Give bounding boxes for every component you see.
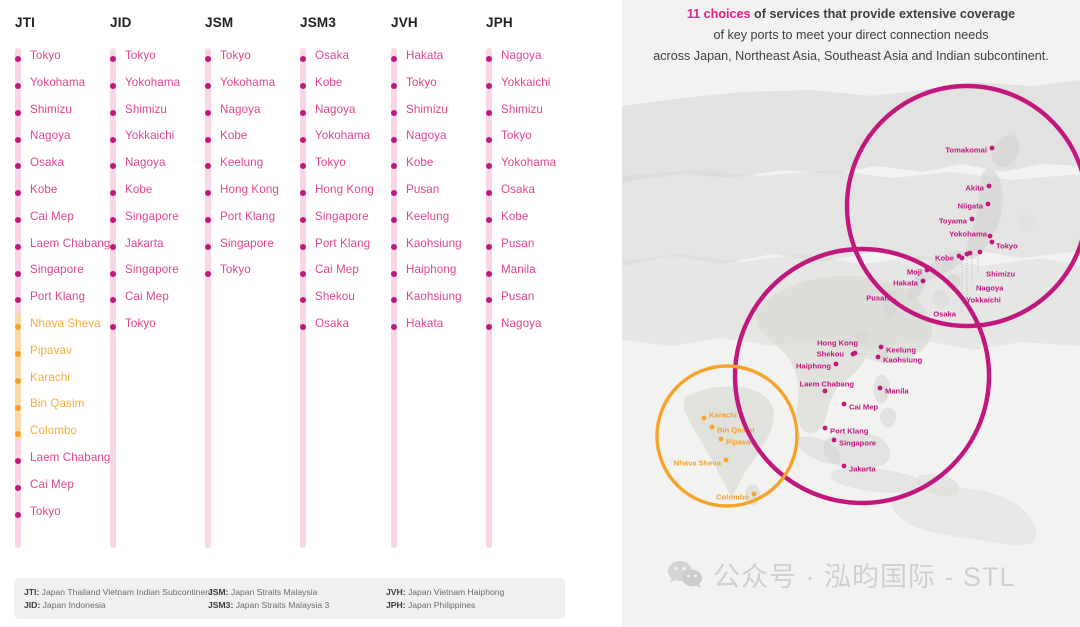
legend-text: Japan Indonesia [40, 600, 105, 610]
stop-label: Tokyo [220, 263, 251, 277]
column-header: JTI [15, 14, 35, 32]
stop-label: Tokyo [406, 76, 437, 90]
stop-dot-icon [391, 271, 397, 277]
stop-dot-icon [110, 137, 116, 143]
legend-group: JVH: Japan Vietnam HaiphongJPH: Japan Ph… [386, 586, 504, 611]
stop-label: Tokyo [125, 49, 156, 63]
headline-line-1-rest: of services that provide extensive cover… [751, 7, 1016, 21]
stop-dot-icon [205, 217, 211, 223]
stop-dot-icon [15, 512, 21, 518]
stop-dot-icon [300, 217, 306, 223]
stop-label: Pusan [406, 183, 439, 197]
legend-code: JID: [24, 600, 40, 610]
legend-code: JTI: [24, 587, 39, 597]
stop-label: Singapore [125, 263, 179, 277]
port-dot-icon [970, 217, 975, 222]
legend-row: JVH: Japan Vietnam Haiphong [386, 586, 504, 599]
port-label: Kobe [935, 254, 954, 263]
stop-label: Yokohama [220, 76, 275, 90]
port-dot-icon [834, 362, 839, 367]
stop-dot-icon [15, 244, 21, 250]
port-dot-icon [986, 202, 991, 207]
stop-label: Kobe [315, 76, 342, 90]
stop-dot-icon [486, 217, 492, 223]
stop-dot-icon [300, 110, 306, 116]
map-panel: 11 choices of services that provide exte… [622, 0, 1080, 627]
stop-label: Osaka [30, 156, 64, 170]
port-dot-icon [823, 426, 828, 431]
stop-dot-icon [205, 110, 211, 116]
stop-label: Shimizu [125, 103, 167, 117]
stop-label: Kaohsiung [406, 237, 462, 251]
service-column-jid: JIDTokyoYokohamaShimizuYokkaichiNagoyaKo… [110, 14, 132, 32]
stop-dot-icon [110, 271, 116, 277]
port-dot-icon [876, 355, 881, 360]
stop-label: Nagoya [406, 129, 447, 143]
stop-label: Tokyo [315, 156, 346, 170]
world-map: TomakomaiAkitaNiigataToyamaYokohamaTokyo… [622, 46, 1080, 546]
stop-dot-icon [486, 244, 492, 250]
stop-dot-icon [205, 244, 211, 250]
port-label: Keelung [886, 346, 916, 355]
stop-dot-icon [15, 405, 21, 411]
stop-label: Nhava Sheva [30, 317, 101, 331]
port-dot-icon [851, 352, 856, 357]
stop-label: Laem Chabang [30, 451, 110, 465]
stop-label: Nagoya [125, 156, 166, 170]
watermark: 公众号 · 泓昀国际 - STL [667, 555, 1016, 594]
port-dot-icon [724, 458, 729, 463]
stop-dot-icon [486, 271, 492, 277]
legend-row: JTI: Japan Thailand Vietnam Indian Subco… [24, 586, 212, 599]
port-label: Singapore [839, 439, 876, 448]
port-label: Manila [885, 387, 909, 396]
stop-label: Osaka [501, 183, 535, 197]
port-label: Yokohama [949, 230, 988, 239]
stop-label: Cai Mep [30, 210, 74, 224]
port-dot-icon [978, 250, 983, 255]
stop-label: Tokyo [30, 505, 61, 519]
service-column-jph: JPHNagoyaYokkaichiShimizuTokyoYokohamaOs… [486, 14, 513, 32]
port-label: Port Klang [830, 427, 869, 436]
column-header: JSM3 [300, 14, 336, 32]
port-dot-icon [960, 256, 965, 261]
headline-line-1: 11 choices of services that provide exte… [622, 4, 1080, 25]
landmass-layer [622, 80, 1080, 545]
stop-label: Kobe [30, 183, 57, 197]
route-rail [205, 48, 211, 548]
legend-row: JPH: Japan Philippines [386, 599, 504, 612]
port-label: Jakarta [849, 465, 876, 474]
stop-label: Port Klang [220, 210, 275, 224]
legend-text: Japan Thailand Vietnam Indian Subcontine… [39, 587, 212, 597]
column-header: JSM [205, 14, 233, 32]
port-label: Tomakomai [945, 146, 987, 155]
stop-label: Laem Chabang [30, 237, 110, 251]
stop-label: Cai Mep [315, 263, 359, 277]
port-label: Toyama [939, 217, 968, 226]
stop-label: Keelung [406, 210, 449, 224]
port-label: Nhava Sheva [674, 459, 722, 468]
port-dot-icon [842, 402, 847, 407]
port-dot-icon [702, 416, 707, 421]
stop-label: Kobe [406, 156, 433, 170]
service-column-jti: JTITokyoYokohamaShimizuNagoyaOsakaKobeCa… [15, 14, 35, 32]
port-label: Shekou [817, 350, 845, 359]
stop-label: Yokohama [501, 156, 556, 170]
stop-label: Pusan [501, 290, 534, 304]
port-dot-icon [990, 240, 995, 245]
stop-label: Kaohsiung [406, 290, 462, 304]
stop-dot-icon [205, 271, 211, 277]
legend-code: JSM3: [208, 600, 233, 610]
service-column-jsm: JSMTokyoYokohamaNagoyaKobeKeelungHong Ko… [205, 14, 233, 32]
stop-label: Yokohama [30, 76, 85, 90]
port-label: Colombo [716, 493, 749, 502]
port-dot-icon [988, 234, 993, 239]
stop-label: Yokohama [315, 129, 370, 143]
stop-dot-icon [110, 244, 116, 250]
legend-group: JSM: Japan Straits MalaysiaJSM3: Japan S… [208, 586, 329, 611]
legend-code: JSM: [208, 587, 229, 597]
headline-line-2: of key ports to meet your direct connect… [622, 25, 1080, 46]
stop-label: Tokyo [125, 317, 156, 331]
stop-dot-icon [205, 137, 211, 143]
service-column-jvh: JVHHakataTokyoShimizuNagoyaKobePusanKeel… [391, 14, 418, 32]
port-label: Osaka [933, 310, 957, 319]
stop-dot-icon [15, 485, 21, 491]
port-label: Yokkaichi [966, 296, 1001, 305]
stop-label: Cai Mep [125, 290, 169, 304]
stop-label: Jakarta [125, 237, 164, 251]
stop-label: Shekou [315, 290, 355, 304]
stop-label: Hakata [406, 49, 443, 63]
stop-dot-icon [110, 83, 116, 89]
stop-dot-icon [391, 110, 397, 116]
legend-row: JSM: Japan Straits Malaysia [208, 586, 329, 599]
stop-label: Haiphong [406, 263, 456, 277]
port-label: Haiphong [796, 362, 831, 371]
stop-dot-icon [486, 137, 492, 143]
stop-label: Keelung [220, 156, 263, 170]
port-dot-icon [842, 464, 847, 469]
stop-label: Hong Kong [220, 183, 279, 197]
port-dot-icon [823, 389, 828, 394]
port-label: Hakata [893, 279, 919, 288]
stop-label: Hakata [406, 317, 443, 331]
stop-dot-icon [110, 110, 116, 116]
port-dot-icon [832, 438, 837, 443]
stop-dot-icon [15, 217, 21, 223]
port-label: Karachi [709, 411, 737, 420]
watermark-text: 公众号 · 泓昀国际 - STL [713, 555, 1016, 594]
port-label: Tokyo [996, 242, 1018, 251]
stop-dot-icon [15, 351, 21, 357]
port-dot-icon [965, 252, 970, 257]
port-label: Niigata [958, 202, 984, 211]
stop-label: Yokohama [125, 76, 180, 90]
port-dot-icon [752, 492, 757, 497]
stop-dot-icon [300, 137, 306, 143]
stop-dot-icon [300, 83, 306, 89]
stop-label: Manila [501, 263, 536, 277]
port-dot-icon [990, 146, 995, 151]
stop-dot-icon [110, 217, 116, 223]
stop-label: Kobe [501, 210, 528, 224]
legend-group: JTI: Japan Thailand Vietnam Indian Subco… [24, 586, 212, 611]
port-label: Hong Kong [817, 339, 858, 348]
column-header: JPH [486, 14, 513, 32]
legend-text: Japan Philippines [406, 600, 476, 610]
stop-label: Cai Mep [30, 478, 74, 492]
stop-dot-icon [15, 137, 21, 143]
legend-box: JTI: Japan Thailand Vietnam Indian Subco… [14, 578, 565, 619]
stop-dot-icon [205, 83, 211, 89]
stop-label: Nagoya [315, 103, 356, 117]
stop-label: Osaka [315, 317, 349, 331]
stop-label: Singapore [220, 237, 274, 251]
port-label: Nagoya [976, 284, 1004, 293]
port-label: Moji [907, 268, 922, 277]
wechat-icon [667, 560, 703, 590]
port-dot-icon [878, 386, 883, 391]
legend-text: Japan Straits Malaysia [229, 587, 318, 597]
column-header: JID [110, 14, 132, 32]
route-rail-highlight [15, 313, 21, 440]
stop-dot-icon [391, 244, 397, 250]
stop-label: Shimizu [30, 103, 72, 117]
stop-label: Kobe [220, 129, 247, 143]
stop-label: Pipavav [30, 344, 72, 358]
legend-row: JID: Japan Indonesia [24, 599, 212, 612]
stop-dot-icon [15, 378, 21, 384]
stop-dot-icon [300, 271, 306, 277]
stop-label: Pusan [501, 237, 534, 251]
stop-label: Kobe [125, 183, 152, 197]
stop-label: Shimizu [406, 103, 448, 117]
stop-label: Shimizu [501, 103, 543, 117]
stop-label: Nagoya [220, 103, 261, 117]
stop-dot-icon [15, 271, 21, 277]
stop-label: Port Klang [30, 290, 85, 304]
stop-label: Nagoya [501, 317, 542, 331]
stop-label: Tokyo [501, 129, 532, 143]
port-label: Laem Chabang [800, 380, 855, 389]
stop-label: Yokkaichi [125, 129, 174, 143]
stop-label: Yokkaichi [501, 76, 550, 90]
legend-text: Japan Vietnam Haiphong [406, 587, 505, 597]
stop-label: Port Klang [315, 237, 370, 251]
stop-dot-icon [391, 217, 397, 223]
legend-code: JPH: [386, 600, 406, 610]
stop-label: Osaka [315, 49, 349, 63]
port-label: Akita [965, 184, 984, 193]
legend-code: JVH: [386, 587, 406, 597]
stop-dot-icon [391, 83, 397, 89]
legend-text: Japan Straits Malaysia 3 [233, 600, 329, 610]
column-header: JVH [391, 14, 418, 32]
port-dot-icon [987, 184, 992, 189]
port-dot-icon [879, 345, 884, 350]
stop-label: Singapore [30, 263, 84, 277]
port-label: Kaohsiung [883, 356, 923, 365]
stop-label: Tokyo [30, 49, 61, 63]
stop-dot-icon [300, 244, 306, 250]
port-label: Cai Mep [849, 403, 878, 412]
port-label: Shimizu [986, 270, 1015, 279]
port-dot-icon [921, 279, 926, 284]
stop-label: Singapore [315, 210, 369, 224]
port-dot-icon [719, 437, 724, 442]
service-columns-panel: JTITokyoYokohamaShimizuNagoyaOsakaKobeCa… [0, 0, 622, 627]
stop-label: Karachi [30, 371, 70, 385]
stop-dot-icon [391, 137, 397, 143]
stop-label: Tokyo [220, 49, 251, 63]
stop-label: Bin Qasim [30, 397, 84, 411]
stop-dot-icon [486, 83, 492, 89]
headline-highlight: 11 choices [687, 7, 751, 21]
service-column-jsm3: JSM3OsakaKobeNagoyaYokohamaTokyoHong Kon… [300, 14, 336, 32]
stop-label: Nagoya [30, 129, 71, 143]
stop-dot-icon [15, 110, 21, 116]
stop-dot-icon [15, 83, 21, 89]
stop-label: Hong Kong [315, 183, 374, 197]
legend-row: JSM3: Japan Straits Malaysia 3 [208, 599, 329, 612]
stop-label: Singapore [125, 210, 179, 224]
stop-label: Nagoya [501, 49, 542, 63]
stop-label: Colombo [30, 424, 77, 438]
stop-dot-icon [486, 110, 492, 116]
port-dot-icon [710, 425, 715, 430]
